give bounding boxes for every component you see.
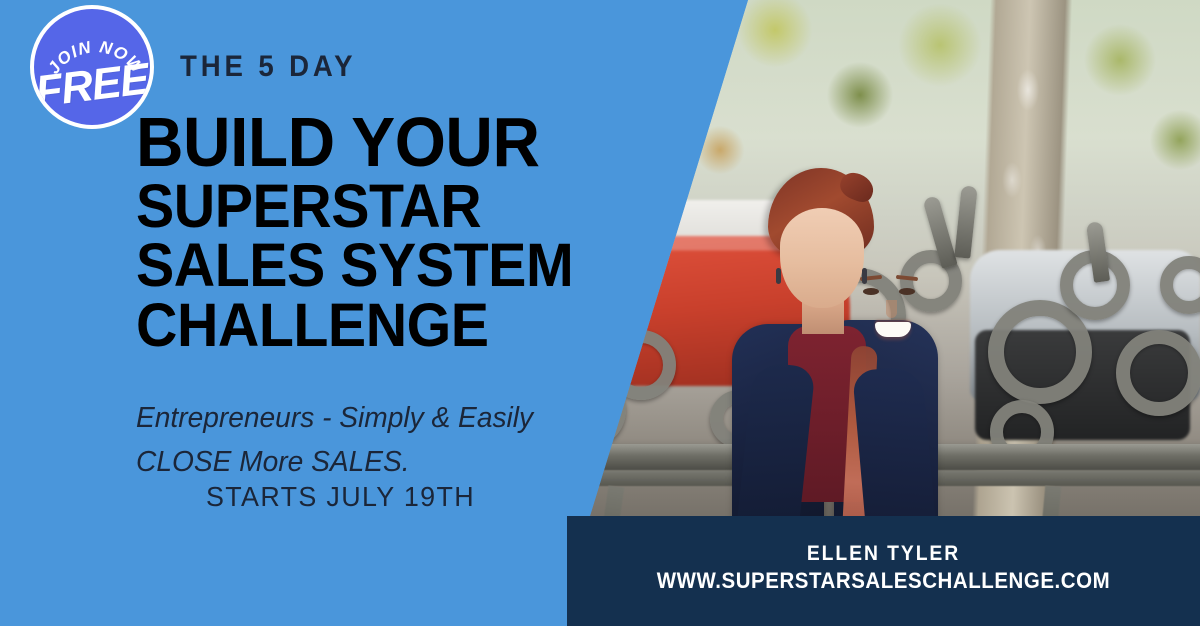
headline-line-3: SALES SYSTEM <box>136 239 573 293</box>
headline-group: BUILD YOUR SUPERSTAR SALES SYSTEM CHALLE… <box>136 112 601 353</box>
bench-scroll <box>1160 256 1200 314</box>
copy-block: THE 5 DAY BUILD YOUR SUPERSTAR SALES SYS… <box>0 0 700 626</box>
headline-line-1: BUILD YOUR <box>136 112 573 174</box>
subheadline-line-2: CLOSE More SALES. <box>136 440 533 484</box>
smile <box>875 322 911 337</box>
eye-left <box>863 288 879 295</box>
promo-banner: ELLEN TYLER WWW.SUPERSTARSALESCHALLENGE.… <box>0 0 1200 626</box>
headline-line-4: CHALLENGE <box>136 299 573 353</box>
nose <box>886 300 897 318</box>
face <box>780 208 864 308</box>
start-date-text: STARTS JULY 19TH <box>206 481 475 513</box>
eye-right <box>899 288 915 295</box>
eyebrow-right <box>896 275 918 281</box>
earring-right <box>862 268 867 284</box>
earring-left <box>776 268 781 284</box>
kicker-text: THE 5 DAY <box>180 50 356 84</box>
subheadline-group: Entrepreneurs - Simply & Easily CLOSE Mo… <box>136 396 545 484</box>
bench-scroll <box>1116 330 1200 416</box>
headline-line-2: SUPERSTAR <box>136 180 573 234</box>
subheadline-line-1: Entrepreneurs - Simply & Easily <box>136 396 533 440</box>
